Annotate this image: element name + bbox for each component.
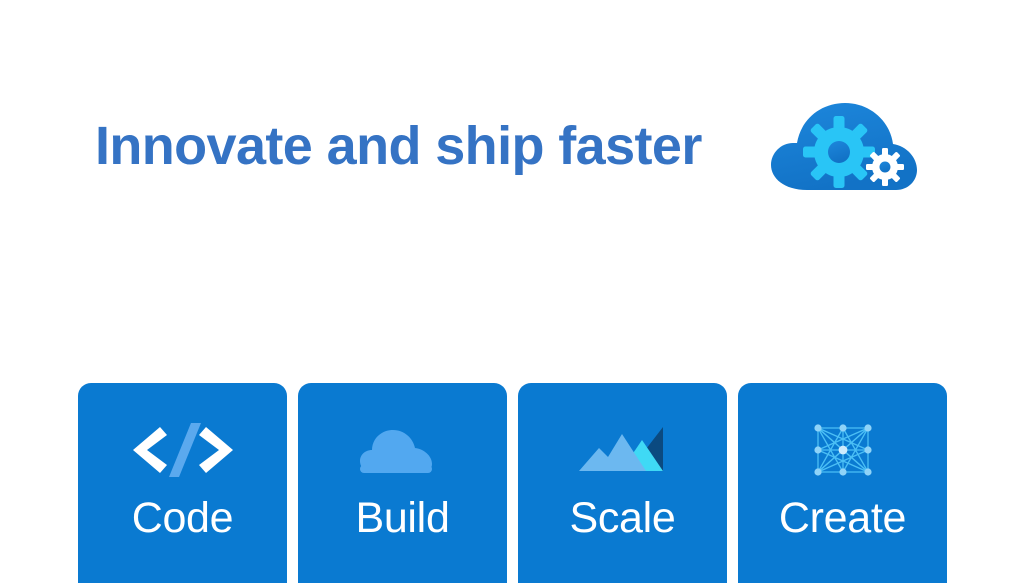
feature-card-label: Code: [132, 497, 234, 540]
feature-card-create[interactable]: Create: [738, 383, 947, 583]
cloud-gears-icon: [760, 99, 920, 194]
headline-row: Innovate and ship faster: [95, 96, 935, 196]
feature-card-code[interactable]: Code: [78, 383, 287, 583]
feature-card-row: Code Build Scale: [78, 383, 947, 583]
feature-card-scale[interactable]: Scale: [518, 383, 727, 583]
mountains-chart-icon: [567, 421, 679, 479]
cloud-icon: [347, 421, 459, 479]
feature-card-label: Scale: [569, 497, 675, 540]
neural-network-icon: [787, 421, 899, 479]
page-title: Innovate and ship faster: [95, 118, 702, 175]
slide-canvas: Innovate and ship faster: [0, 0, 1022, 575]
code-brackets-icon: [127, 421, 239, 479]
feature-card-build[interactable]: Build: [298, 383, 507, 583]
feature-card-label: Build: [355, 497, 449, 540]
feature-card-label: Create: [779, 497, 906, 540]
